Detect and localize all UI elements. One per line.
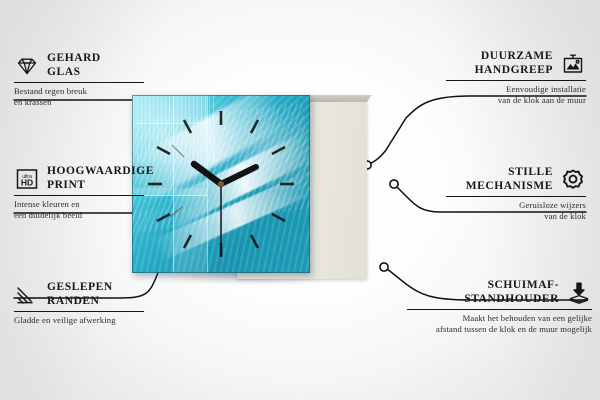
feature-title-line2: HANDGREEP <box>475 64 553 78</box>
feature-rule <box>446 196 586 197</box>
glass-clock-face <box>132 95 310 273</box>
feature-duurzame-handgreep: DUURZAME HANDGREEP Eenvoudige installati… <box>446 50 586 105</box>
feature-rule <box>14 311 144 312</box>
feature-description: Maakt het behouden van een gelijke afsta… <box>407 313 592 334</box>
feature-rule <box>14 82 144 83</box>
feature-title-line1: DUURZAME <box>475 50 553 64</box>
feature-title-line1: SCHUIMAF- <box>464 279 559 293</box>
feature-title-line2: STANDHOUDER <box>464 293 559 307</box>
infographic-canvas: GEHARD GLAS Bestand tegen breuk en krass… <box>0 0 600 400</box>
feature-title-line2: PRINT <box>47 179 154 193</box>
feature-description: Geruisloze wijzers van de klok <box>446 200 586 221</box>
product-image <box>132 95 332 290</box>
foam-spacer-icon <box>566 280 592 306</box>
feature-title-line1: GEHARD <box>47 52 101 66</box>
gear-icon <box>560 167 586 193</box>
feature-title-line2: RANDEN <box>47 295 113 309</box>
feature-rule <box>446 80 586 81</box>
feature-description: Intense kleuren en een duidelijk beeld <box>14 199 144 220</box>
svg-text:HD: HD <box>21 177 33 187</box>
feature-title-line2: MECHANISME <box>466 180 553 194</box>
beveled-edges-icon <box>14 282 40 308</box>
feature-title-line1: GESLEPEN <box>47 281 113 295</box>
feature-title-line1: HOOGWAARDIGE <box>47 165 154 179</box>
feature-hoogwaardige-print: ultra HD HOOGWAARDIGE PRINT Intense kleu… <box>14 165 144 220</box>
feature-geslepen-randen: GESLEPEN RANDEN Gladde en veilige afwerk… <box>14 281 144 326</box>
feature-title-line1: STILLE <box>466 166 553 180</box>
feature-stille-mechanisme: STILLE MECHANISME Geruisloze wijzers van… <box>446 166 586 221</box>
connector-node-stille-mechanisme <box>390 180 398 188</box>
connector-node-schuimafstandhouder <box>380 263 388 271</box>
feature-description: Gladde en veilige afwerking <box>14 315 144 326</box>
feature-description: Eenvoudige installatie van de klok aan d… <box>446 84 586 105</box>
feature-gehard-glas: GEHARD GLAS Bestand tegen breuk en krass… <box>14 52 144 107</box>
wall-hanger-icon <box>560 51 586 77</box>
feature-rule <box>407 309 592 310</box>
feature-description: Bestand tegen breuk en krassen <box>14 86 144 107</box>
feature-schuimafstandhouder: SCHUIMAF- STANDHOUDER Maakt het behouden… <box>407 279 592 334</box>
connector-duurzame-handgreep <box>369 96 586 164</box>
ultra-hd-icon: ultra HD <box>14 166 40 192</box>
feature-rule <box>14 195 144 196</box>
diamond-icon <box>14 53 40 79</box>
feature-title-line2: GLAS <box>47 66 101 80</box>
